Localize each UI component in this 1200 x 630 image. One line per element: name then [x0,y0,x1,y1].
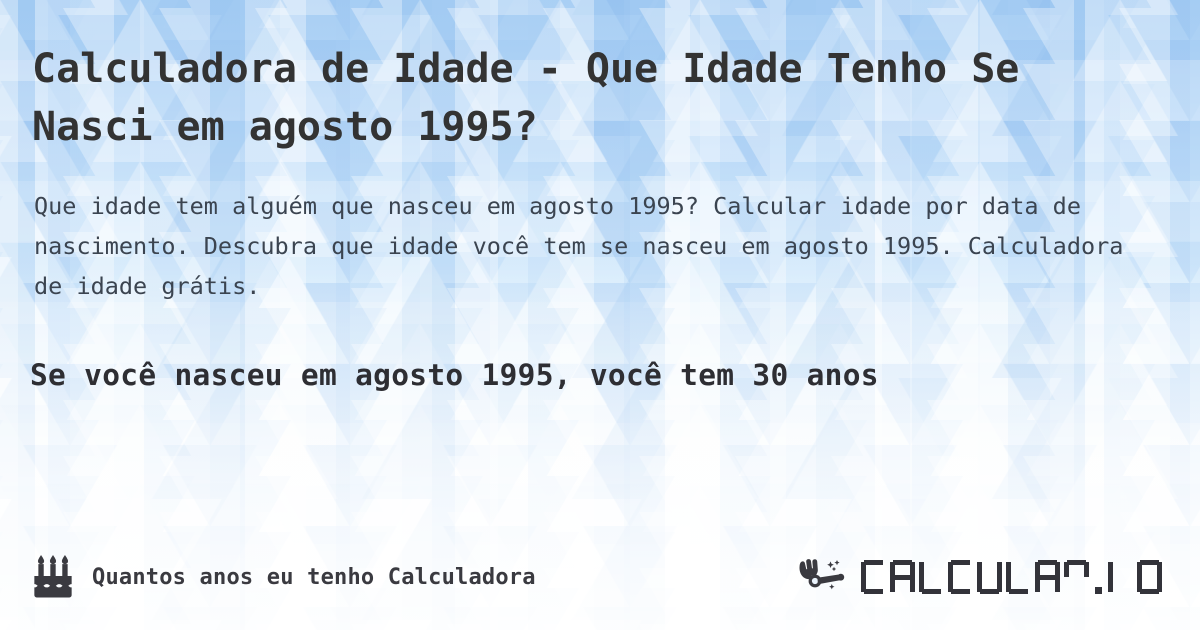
card-footer: Quantos anos eu tenho Calculadora [0,546,1200,608]
site-brand: Quantos anos eu tenho Calculadora [30,555,536,599]
birthday-cake-icon [30,555,76,599]
social-share-card: Calculadora de Idade - Que Idade Tenho S… [0,0,1200,630]
card-content: Calculadora de Idade - Que Idade Tenho S… [0,0,1200,630]
magic-wand-hand-icon [795,557,851,597]
lcd-char-c [861,560,886,594]
lcd-char-i [1108,560,1133,594]
lcd-char-t [1064,560,1089,594]
lcd-char-period [1093,560,1104,594]
lcd-char-l2 [1006,560,1031,594]
page-title: Calculadora de Idade - Que Idade Tenho S… [32,40,1042,156]
lcd-char-c2 [948,560,973,594]
lcd-char-a [890,560,915,594]
lcd-char-u [977,560,1002,594]
age-result-statement: Se você nasceu em agosto 1995, você tem … [30,354,1180,396]
lcd-char-l [919,560,944,594]
site-brand-label: Quantos anos eu tenho Calculadora [92,565,536,590]
lcd-char-o [1137,560,1162,594]
page-description: Que idade tem alguém que nasceu em agost… [34,186,1154,306]
calculatio-logo [795,557,1166,597]
lcd-char-a2 [1035,560,1060,594]
calculatio-wordmark [861,560,1166,594]
